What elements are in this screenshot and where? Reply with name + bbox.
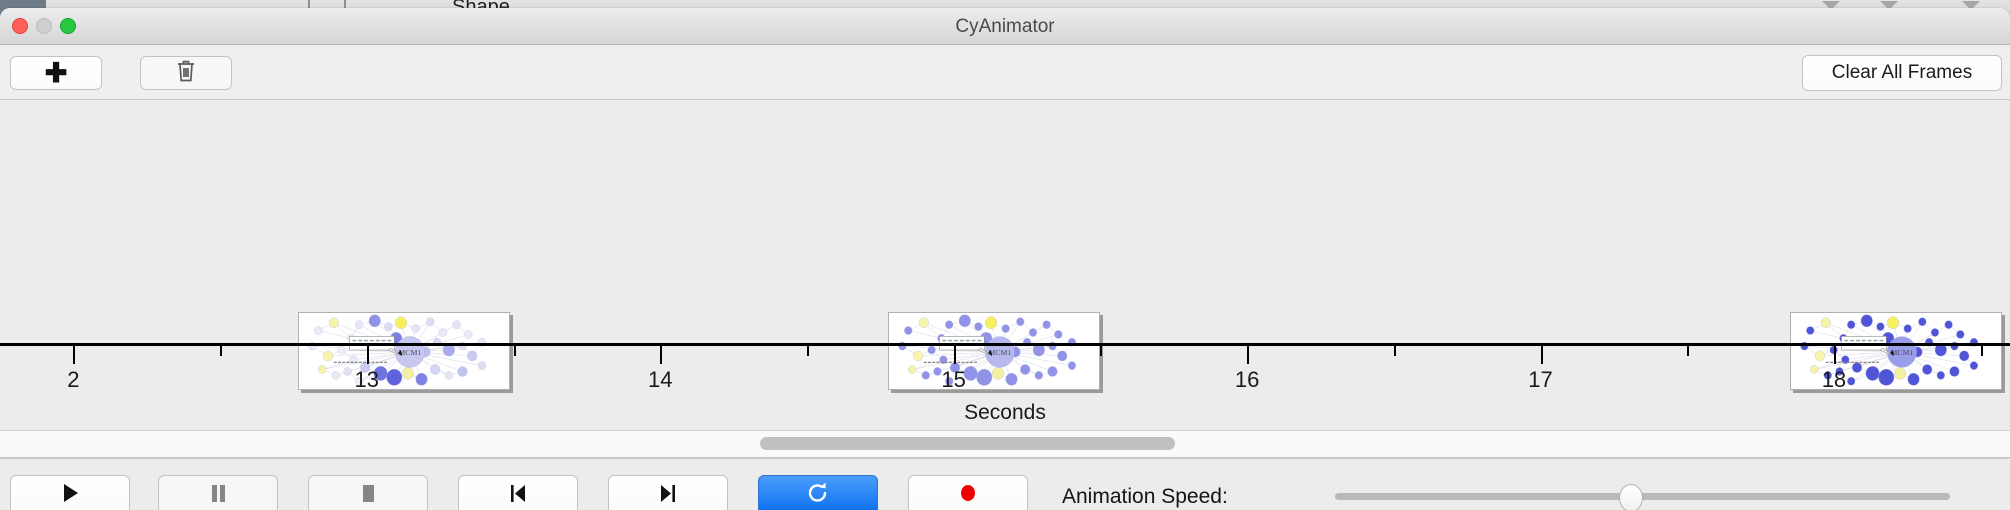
- stop-icon: [355, 480, 381, 510]
- axis-tick-label-16: 16: [1235, 367, 1259, 393]
- axis-tick-major-14: [660, 346, 662, 364]
- frames-container: MCM1MCM1MCM1: [0, 100, 2010, 343]
- axis-title: Seconds: [0, 401, 2010, 425]
- timeline-axis: 2131415161718 Seconds: [0, 343, 2010, 431]
- loop-icon: [805, 480, 831, 510]
- play-button[interactable]: [10, 475, 130, 510]
- axis-tick-minor-16.5: [1394, 346, 1396, 356]
- pause-icon: [205, 480, 231, 510]
- cyanimator-window-screenshot: Shape CyAnimator ✚: [0, 0, 2010, 510]
- loop-button[interactable]: [758, 475, 878, 510]
- stop-button[interactable]: [308, 475, 428, 510]
- axis-tick-label-17: 17: [1528, 367, 1552, 393]
- skip-end-button[interactable]: [608, 475, 728, 510]
- axis-tick-label-12: 2: [67, 367, 79, 393]
- axis-tick-major-13: [367, 346, 369, 364]
- record-button[interactable]: [908, 475, 1028, 510]
- add-frame-button[interactable]: ✚: [10, 56, 102, 90]
- trash-icon: [175, 58, 197, 89]
- toolbar: ✚ Clear All Frames: [0, 45, 2010, 100]
- playback-control-bar: Animation Speed:: [0, 458, 2010, 510]
- axis-tick-label-15: 15: [941, 367, 965, 393]
- timeline-scrollbar-track[interactable]: [0, 431, 2010, 458]
- axis-line: [0, 343, 2010, 346]
- play-icon: [57, 480, 83, 510]
- cyanimator-window: CyAnimator ✚ Clear All Frames: [0, 8, 2010, 510]
- skip-backward-icon: [505, 480, 531, 510]
- axis-tick-minor-17.5: [1687, 346, 1689, 356]
- skip-start-button[interactable]: [458, 475, 578, 510]
- axis-tick-label-18: 18: [1822, 367, 1846, 393]
- plus-icon: ✚: [45, 60, 68, 87]
- window-title: CyAnimator: [0, 16, 2010, 38]
- axis-tick-minor-14.5: [807, 346, 809, 356]
- title-bar: CyAnimator: [0, 8, 2010, 45]
- axis-tick-major-15: [954, 346, 956, 364]
- timeline-panel[interactable]: MCM1MCM1MCM1 2131415161718 Seconds: [0, 100, 2010, 431]
- axis-tick-major-16: [1247, 346, 1249, 364]
- axis-tick-minor-15.5: [1100, 346, 1102, 356]
- axis-tick-major-18: [1834, 346, 1836, 364]
- delete-frame-button[interactable]: [140, 56, 232, 90]
- animation-speed-label: Animation Speed:: [1062, 485, 1228, 509]
- clear-all-frames-button[interactable]: Clear All Frames: [1802, 55, 2002, 91]
- axis-tick-minor-12.5: [220, 346, 222, 356]
- pause-button[interactable]: [158, 475, 278, 510]
- axis-tick-label-14: 14: [648, 367, 672, 393]
- axis-tick-major-17: [1541, 346, 1543, 364]
- animation-speed-slider-thumb[interactable]: [1619, 484, 1643, 510]
- record-icon: [955, 480, 981, 510]
- timeline-scrollbar-thumb[interactable]: [760, 437, 1175, 450]
- axis-tick-major-12: [73, 346, 75, 364]
- axis-tick-minor-18.5: [1981, 346, 1983, 356]
- axis-tick-label-13: 13: [355, 367, 379, 393]
- animation-speed-slider[interactable]: [1335, 493, 1950, 500]
- skip-forward-icon: [655, 480, 681, 510]
- axis-tick-minor-13.5: [514, 346, 516, 356]
